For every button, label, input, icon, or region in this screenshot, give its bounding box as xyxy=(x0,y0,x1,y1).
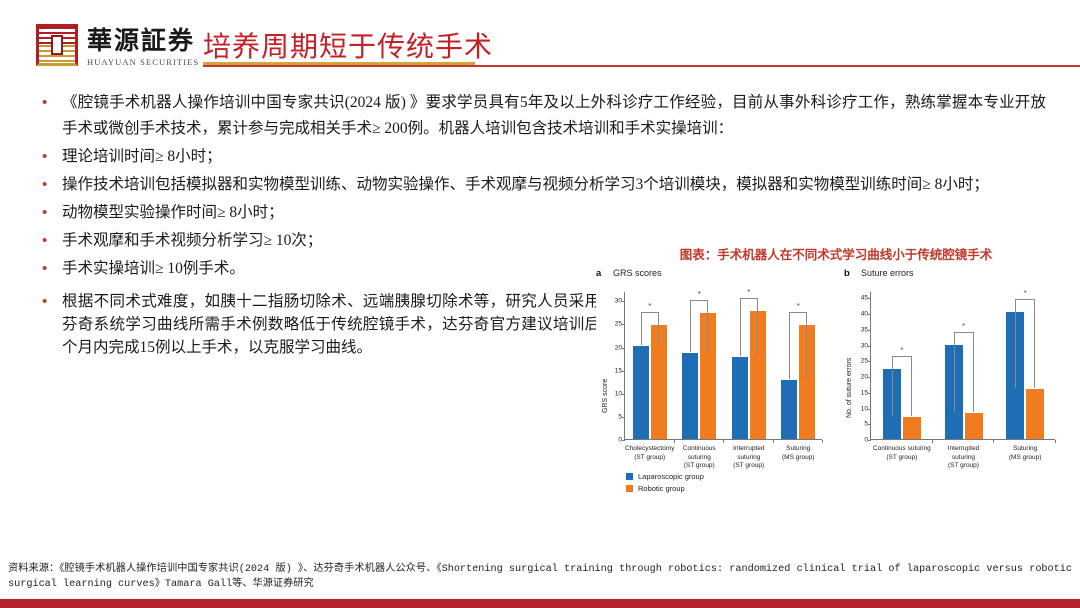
x-axis-category-label: Suturing(MS group) xyxy=(774,445,824,462)
x-axis-tick-mark xyxy=(822,440,823,443)
significance-star: * xyxy=(747,288,750,297)
figure-container: a GRS scores GRS score 051015202530Chole… xyxy=(596,268,1066,518)
page-title: 培养周期短于传统手术 xyxy=(203,25,493,65)
footer-accent-bar xyxy=(0,599,1080,608)
list-item: • 手术实操培训≥ 10例手术。 xyxy=(36,256,616,282)
y-axis-tick-mark xyxy=(622,371,625,372)
list-item-text: 根据不同术式难度，如胰十二指肠切除术、远端胰腺切除术等，研究人员采用达芬奇系统学… xyxy=(62,290,616,359)
panel-b-plot: 051015202530354045Continuous suturing(ST… xyxy=(870,292,1055,440)
panel-a-ylabel: GRS score xyxy=(602,379,609,413)
x-axis-tick-mark xyxy=(773,440,774,443)
legend-item: Robotic group xyxy=(626,484,704,493)
significance-bracket xyxy=(789,312,807,379)
x-axis-category-label: Interruptedsuturing(ST group) xyxy=(933,445,995,471)
y-axis-tick-mark xyxy=(622,440,625,441)
significance-star: * xyxy=(698,290,701,299)
bullet-dot-icon: • xyxy=(36,290,62,313)
chart-bar xyxy=(682,353,698,439)
y-axis-tick-mark xyxy=(868,440,871,441)
list-item: • 理论培训时间≥ 8小时； xyxy=(36,144,616,170)
y-axis-tick-mark xyxy=(622,394,625,395)
significance-bracket xyxy=(892,356,912,416)
significance-bracket xyxy=(954,332,974,412)
significance-star: * xyxy=(1024,289,1027,298)
x-axis-category-label: Continuoussuturing(ST group) xyxy=(675,445,725,471)
chart-bar xyxy=(903,417,921,439)
bullet-dot-icon: • xyxy=(36,144,62,170)
panel-b-ylabel: No. of suture errors xyxy=(846,358,853,418)
logo-mark-icon xyxy=(36,24,78,66)
significance-bracket xyxy=(740,298,758,356)
significance-bracket xyxy=(641,312,659,345)
chart-legend: Laparoscopic groupRobotic group xyxy=(626,472,704,496)
y-axis-tick-mark xyxy=(868,409,871,410)
y-axis-tick-mark xyxy=(868,361,871,362)
panel-a-title: GRS scores xyxy=(613,268,662,278)
legend-color-swatch xyxy=(626,473,633,480)
panel-b-title: Suture errors xyxy=(861,268,914,278)
significance-bracket xyxy=(690,300,708,352)
y-axis-tick-mark xyxy=(622,324,625,325)
logo-wordmark: 華源証券 HUAYUAN SECURITIES xyxy=(87,29,199,67)
logo-chinese-name: 華源証券 xyxy=(87,29,199,54)
bullet-dot-icon: • xyxy=(36,90,62,116)
company-logo: 華源証券 HUAYUAN SECURITIES xyxy=(36,24,199,66)
panel-a-letter: a xyxy=(596,268,601,279)
content-body: • 《腔镜手术机器人操作培训中国专家共识(2024 版) 》要求学员具有5年及以… xyxy=(36,90,616,361)
bullet-dot-icon: • xyxy=(36,200,62,226)
x-axis-tick-mark xyxy=(932,440,933,443)
list-item: • 手术观摩和手术视频分析学习≥ 10次； xyxy=(36,228,616,254)
legend-item: Laparoscopic group xyxy=(626,472,704,481)
slide-footer: 资料来源：《腔镜手术机器人操作培训中国专家共识(2024 版) 》、达芬奇手术机… xyxy=(0,562,1080,592)
chart-bar xyxy=(781,380,797,439)
list-item-text: 手术观摩和手术视频分析学习≥ 10次； xyxy=(62,228,616,254)
slide-root: 華源証券 HUAYUAN SECURITIES 培养周期短于传统手术 • 《腔镜… xyxy=(0,0,1080,608)
significance-bracket xyxy=(1015,299,1035,388)
bullet-dot-icon: • xyxy=(36,256,62,282)
significance-star: * xyxy=(900,346,903,355)
bullet-dot-icon: • xyxy=(36,172,62,198)
list-item-text: 操作技术培训包括模拟器和实物模型训练、动物实验操作、手术观摩与视频分析学习3个培… xyxy=(62,172,1046,198)
list-item-text: 《腔镜手术机器人操作培训中国专家共识(2024 版) 》要求学员具有5年及以上外… xyxy=(62,90,1046,142)
slide-header: 華源証券 HUAYUAN SECURITIES 培养周期短于传统手术 xyxy=(0,0,1080,78)
y-axis-tick-mark xyxy=(868,298,871,299)
logo-english-name: HUAYUAN SECURITIES xyxy=(87,58,199,67)
x-axis-tick-mark xyxy=(674,440,675,443)
list-item: • 根据不同术式难度，如胰十二指肠切除术、远端胰腺切除术等，研究人员采用达芬奇系… xyxy=(36,290,616,359)
legend-label: Laparoscopic group xyxy=(638,472,704,481)
list-item-text: 动物模型实验操作时间≥ 8小时； xyxy=(62,200,616,226)
x-axis-category-label: Cholecystectomy(ST group) xyxy=(625,445,675,462)
y-axis-tick-mark xyxy=(868,377,871,378)
list-item: • 动物模型实验操作时间≥ 8小时； xyxy=(36,200,616,226)
figure-caption: 图表：手术机器人在不同术式学习曲线小于传统腔镜手术 xyxy=(636,244,1036,263)
y-axis-tick-mark xyxy=(868,314,871,315)
header-divider-red xyxy=(203,65,1080,67)
y-axis-tick-mark xyxy=(868,330,871,331)
significance-star: * xyxy=(648,302,651,311)
y-axis-tick-mark xyxy=(868,346,871,347)
list-item: • 操作技术培训包括模拟器和实物模型训练、动物实验操作、手术观摩与视频分析学习3… xyxy=(36,172,1046,198)
x-axis-tick-mark xyxy=(993,440,994,443)
panel-a-plot: 051015202530Cholecystectomy(ST group)*Co… xyxy=(624,292,822,440)
x-axis-category-label: Suturing(MS group) xyxy=(994,445,1056,462)
y-axis-tick-mark xyxy=(622,417,625,418)
logo-center-block xyxy=(51,35,63,55)
x-axis-tick-mark xyxy=(1055,440,1056,443)
legend-color-swatch xyxy=(626,485,633,492)
x-axis-category-label: Interruptedsuturing(ST group) xyxy=(724,445,774,471)
list-item: • 《腔镜手术机器人操作培训中国专家共识(2024 版) 》要求学员具有5年及以… xyxy=(36,90,1046,142)
chart-bar xyxy=(965,413,983,439)
panel-b-letter: b xyxy=(844,268,850,279)
source-text: 资料来源：《腔镜手术机器人操作培训中国专家共识(2024 版) 》、达芬奇手术机… xyxy=(8,562,1072,592)
significance-star: * xyxy=(962,322,965,331)
chart-bar xyxy=(732,357,748,439)
y-axis-tick-mark xyxy=(622,301,625,302)
x-axis-tick-mark xyxy=(723,440,724,443)
bullet-dot-icon: • xyxy=(36,228,62,254)
list-item-text: 手术实操培训≥ 10例手术。 xyxy=(62,256,616,282)
list-item-text: 理论培训时间≥ 8小时； xyxy=(62,144,616,170)
x-axis-category-label: Continuous suturing(ST group) xyxy=(871,445,933,462)
y-axis-tick-mark xyxy=(868,393,871,394)
chart-bar xyxy=(1026,389,1044,439)
y-axis-tick-mark xyxy=(868,424,871,425)
significance-star: * xyxy=(797,302,800,311)
chart-bar xyxy=(633,346,649,439)
legend-label: Robotic group xyxy=(638,484,685,493)
y-axis-tick-mark xyxy=(622,348,625,349)
